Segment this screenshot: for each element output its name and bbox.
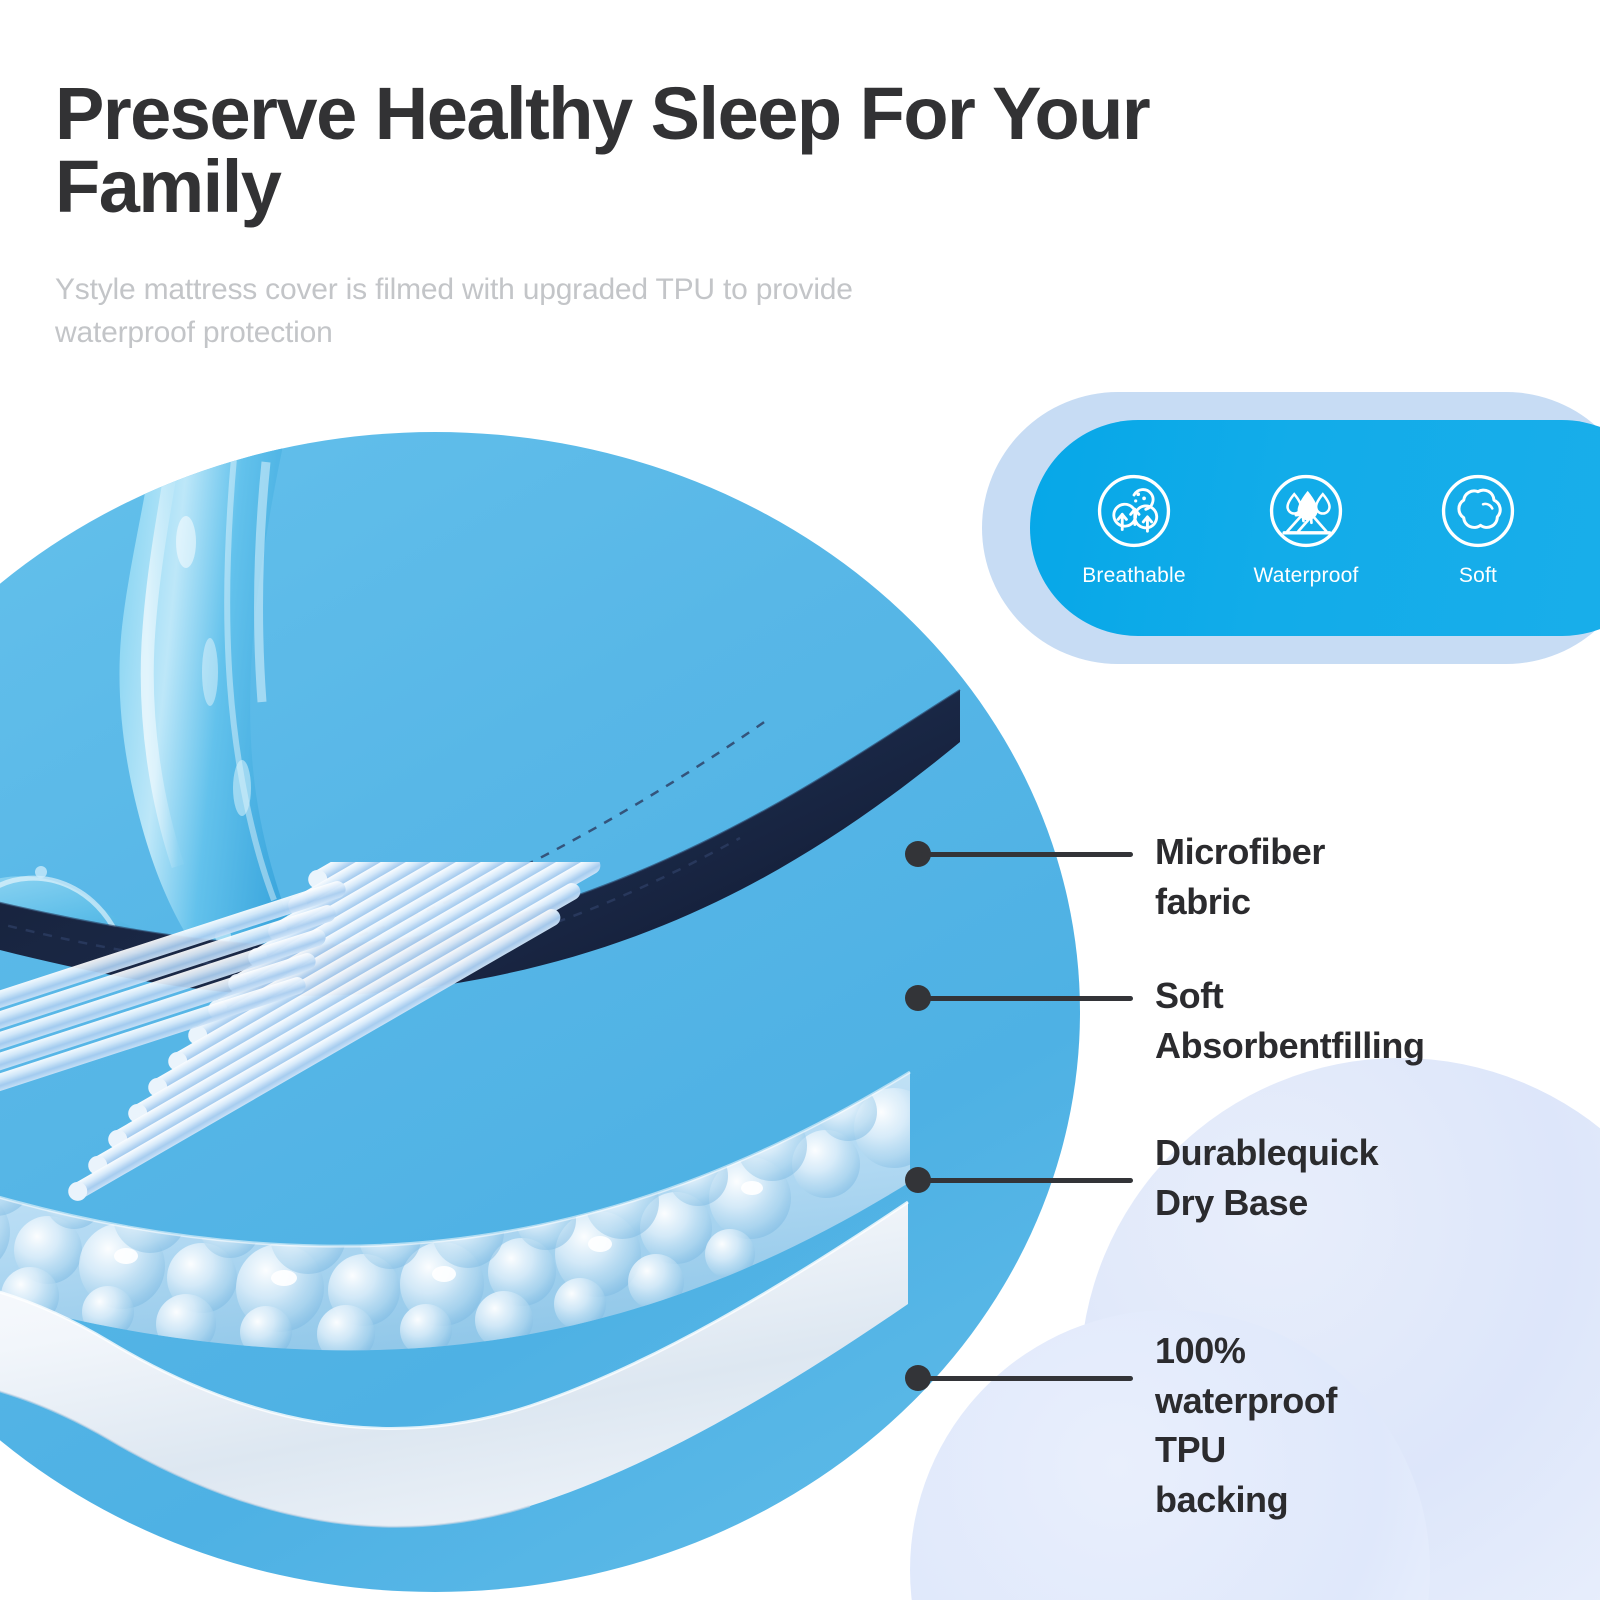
page-title: Preserve Healthy Sleep For Your Family	[55, 78, 1175, 223]
callout-label: 100% waterproof TPU backing	[1155, 1326, 1337, 1525]
badge-breathable[interactable]: Breathable	[1048, 469, 1220, 588]
cotton-boll-airflow-icon	[1092, 469, 1176, 553]
callout-label: Soft Absorbentfilling	[1155, 971, 1425, 1070]
cotton-puff-icon	[1436, 469, 1520, 553]
callout-label: Durablequick Dry Base	[1155, 1128, 1378, 1227]
page-subtitle: Ystyle mattress cover is filmed with upg…	[55, 269, 955, 354]
badge-waterproof-label: Waterproof	[1253, 564, 1358, 588]
callout-leader-line	[921, 1376, 1133, 1381]
water-droplet-repel-icon	[1264, 469, 1348, 553]
callout-leader-line	[921, 1178, 1133, 1183]
badge-breathable-label: Breathable	[1082, 564, 1186, 588]
infographic-canvas: Preserve Healthy Sleep For Your Family Y…	[0, 0, 1600, 1600]
badge-soft-label: Soft	[1459, 564, 1497, 588]
callout-leader-line	[921, 852, 1133, 857]
layer-tpu-backing	[0, 1192, 950, 1592]
product-hero-circle	[0, 432, 1080, 1592]
header-block: Preserve Healthy Sleep For Your Family Y…	[55, 78, 1255, 354]
feature-badge-panel: Breathable Waterproof	[1030, 420, 1600, 636]
badge-waterproof[interactable]: Waterproof	[1220, 469, 1392, 588]
callout-label: Microfiber fabric	[1155, 827, 1325, 926]
badge-soft[interactable]: Soft	[1392, 469, 1564, 588]
callout-leader-line	[921, 996, 1133, 1001]
